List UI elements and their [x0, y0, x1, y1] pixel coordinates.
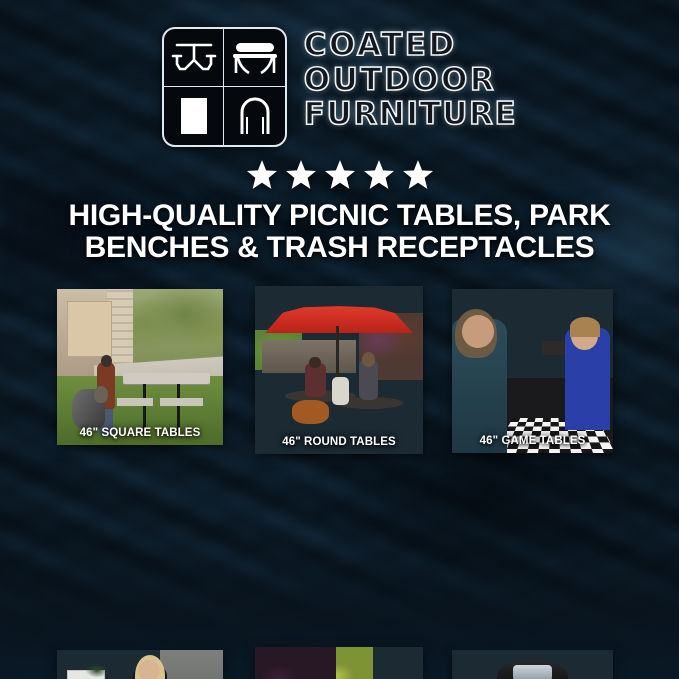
logo-icon-grid [162, 27, 287, 147]
star-icon [286, 160, 316, 189]
product-tile-round-tables[interactable]: 46" ROUND TABLES [255, 286, 423, 454]
rectangular-tables-photo [57, 650, 223, 679]
product-tile-rectangular-tables[interactable]: 6FT & 8FT RECTANGULAR TABLES [57, 650, 223, 679]
park-bench-icon [224, 29, 285, 87]
headline: HIGH-QUALITY PICNIC TABLES, PARK BENCHES… [34, 200, 645, 264]
benches-photo [255, 647, 423, 679]
wordmark-line-3: FURNITURE [304, 99, 517, 131]
caption-line-1: 46" SQUARE TABLES [80, 427, 201, 439]
product-tile-game-tables[interactable]: 46" GAME TABLES [452, 289, 613, 453]
round-tables-photo [255, 286, 423, 454]
tile-caption: 46" GAME TABLES [452, 435, 613, 448]
star-icon [403, 160, 433, 189]
bike-rack-icon [224, 87, 285, 145]
brand-logo: COATED OUTDOOR FURNITURE [0, 27, 679, 147]
caption-line-1: 46" ROUND TABLES [282, 436, 396, 448]
product-tile-square-tables[interactable]: 46" SQUARE TABLES [57, 289, 223, 445]
caption-line-1: 46" GAME TABLES [480, 435, 586, 447]
headline-line-1: HIGH-QUALITY PICNIC TABLES, PARK [68, 199, 610, 232]
star-icon [364, 160, 394, 189]
rating-stars [0, 160, 679, 189]
headline-line-2: BENCHES & TRASH RECEPTACLES [34, 232, 645, 264]
product-tile-trash-receptacles[interactable]: DOME & FLAT LID TRASH RECEPTACLES [452, 650, 613, 679]
game-tables-photo [452, 289, 613, 453]
trash-receptacles-photo [452, 650, 613, 679]
tile-caption: 46" SQUARE TABLES [57, 427, 223, 440]
product-tile-benches[interactable]: 6FT & 8FT BENCHES [255, 647, 423, 679]
star-icon [247, 160, 277, 189]
star-icon [325, 160, 355, 189]
product-banner-image: COATED OUTDOOR FURNITURE HIGH-QUALITY PI… [0, 0, 679, 679]
wordmark-line-1: COATED [304, 30, 517, 62]
picnic-table-icon [164, 29, 225, 87]
tile-caption: 46" ROUND TABLES [255, 436, 423, 449]
brand-wordmark: COATED OUTDOOR FURNITURE [304, 27, 517, 131]
square-tables-photo [57, 289, 223, 445]
wordmark-line-2: OUTDOOR [304, 65, 517, 97]
trash-receptacle-icon [164, 87, 225, 145]
product-grid: 46" SQUARE TABLES [0, 286, 679, 638]
